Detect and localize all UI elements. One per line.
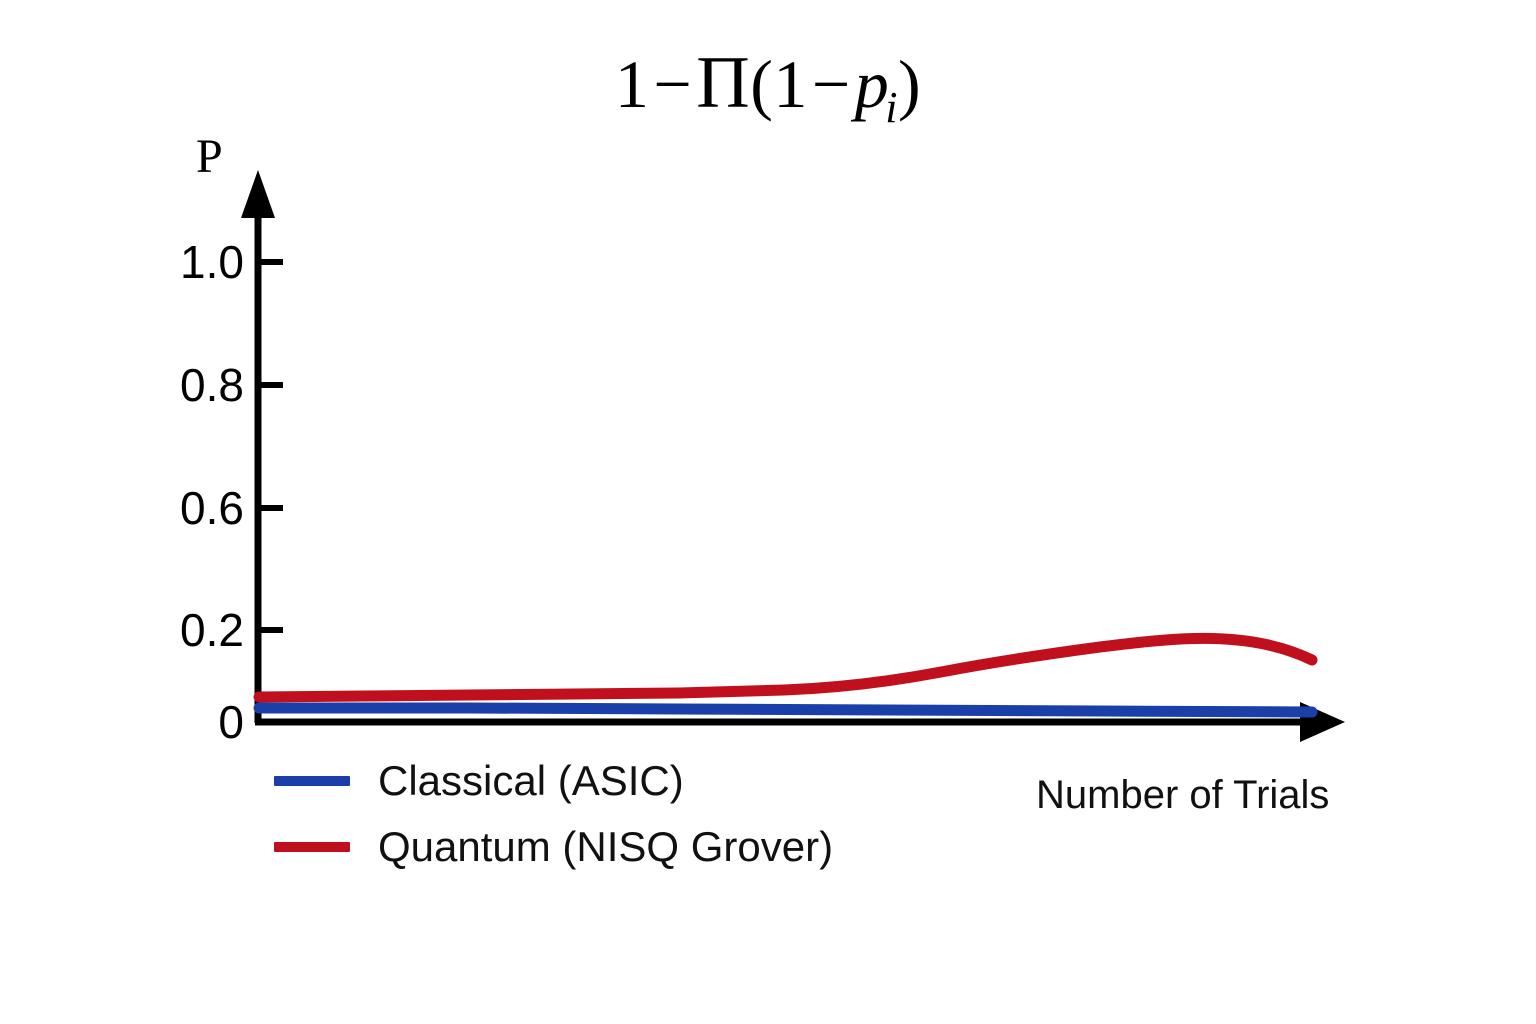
y-tick-label-1: 1.0 (110, 239, 244, 285)
legend-swatch-classical (274, 776, 350, 786)
chart-canvas: 1−Π(1−pi) (0, 0, 1536, 1024)
series-line-quantum (259, 638, 1312, 697)
series-line-classical (259, 708, 1312, 712)
legend-swatch-quantum (274, 842, 350, 852)
y-tick-label-3: 0.6 (110, 485, 244, 531)
legend-label-classical: Classical (ASIC) (378, 760, 684, 802)
legend-label-quantum: Quantum (NISQ Grover) (378, 826, 833, 868)
x-axis-label: Number of Trials (1036, 775, 1329, 815)
y-tick-label-2: 0.8 (110, 362, 244, 408)
y-tick-label-5: 0 (110, 699, 244, 745)
legend-item-quantum[interactable]: Quantum (NISQ Grover) (274, 814, 833, 880)
y-tick-label-4: 0.2 (110, 607, 244, 653)
y-axis (241, 170, 275, 723)
chart-legend: Classical (ASIC) Quantum (NISQ Grover) (274, 748, 833, 880)
y-axis-arrowhead (241, 170, 275, 218)
y-axis-label: P (196, 133, 223, 181)
legend-item-classical[interactable]: Classical (ASIC) (274, 748, 833, 814)
y-axis-ticks (258, 262, 283, 630)
